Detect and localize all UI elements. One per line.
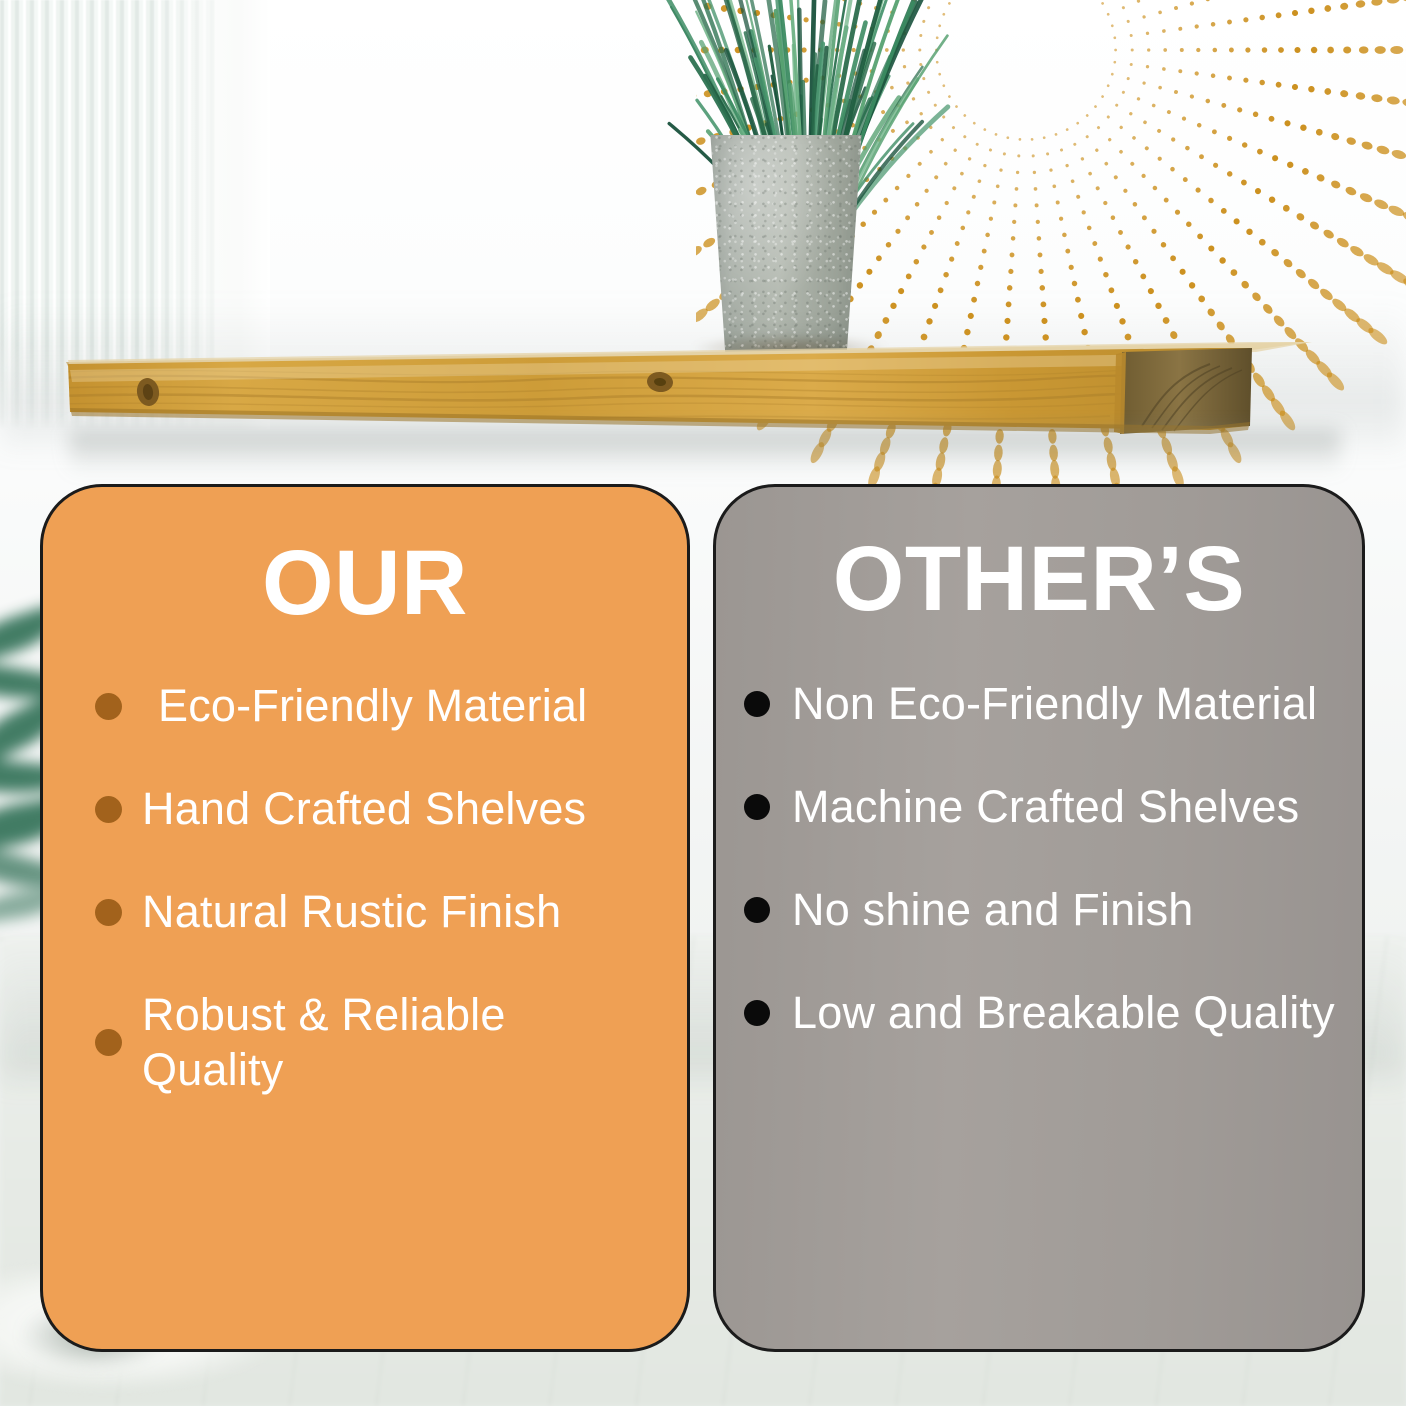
list-item-label: Natural Rustic Finish (142, 885, 561, 940)
bullet-dot-icon (95, 899, 122, 926)
list-item-label: Robust & Reliable Quality (142, 988, 657, 1098)
list-item-label: Eco-Friendly Material (142, 679, 587, 734)
list-item: Hand Crafted Shelves (95, 782, 657, 837)
our-benefits-list: Eco-Friendly Material Hand Crafted Shelv… (43, 679, 687, 1097)
bullet-dot-icon (744, 897, 770, 923)
list-item: Natural Rustic Finish (95, 885, 657, 940)
our-card-title: OUR (43, 537, 687, 629)
list-item-label: No shine and Finish (792, 883, 1194, 938)
list-item-label: Non Eco-Friendly Material (792, 677, 1317, 732)
list-item: Machine Crafted Shelves (744, 780, 1336, 835)
bullet-dot-icon (95, 1029, 122, 1056)
list-item: Robust & Reliable Quality (95, 988, 657, 1098)
others-drawbacks-list: Non Eco-Friendly Material Machine Crafte… (716, 677, 1362, 1041)
bullet-dot-icon (95, 796, 122, 823)
comparison-cards: OUR Eco-Friendly Material Hand Crafted S… (0, 0, 1406, 1406)
infographic-canvas: OUR Eco-Friendly Material Hand Crafted S… (0, 0, 1406, 1406)
bullet-dot-icon (744, 794, 770, 820)
list-item-label: Machine Crafted Shelves (792, 780, 1299, 835)
bullet-dot-icon (744, 691, 770, 717)
list-item: No shine and Finish (744, 883, 1336, 938)
bullet-dot-icon (95, 693, 122, 720)
others-card: OTHER’S Non Eco-Friendly Material Machin… (713, 484, 1365, 1352)
others-card-title: OTHER’S (716, 533, 1362, 625)
bullet-dot-icon (744, 1000, 770, 1026)
list-item-label: Low and Breakable Quality (792, 986, 1335, 1041)
our-card: OUR Eco-Friendly Material Hand Crafted S… (40, 484, 690, 1352)
list-item: Non Eco-Friendly Material (744, 677, 1336, 732)
list-item: Low and Breakable Quality (744, 986, 1336, 1041)
list-item: Eco-Friendly Material (95, 679, 657, 734)
list-item-label: Hand Crafted Shelves (142, 782, 586, 837)
